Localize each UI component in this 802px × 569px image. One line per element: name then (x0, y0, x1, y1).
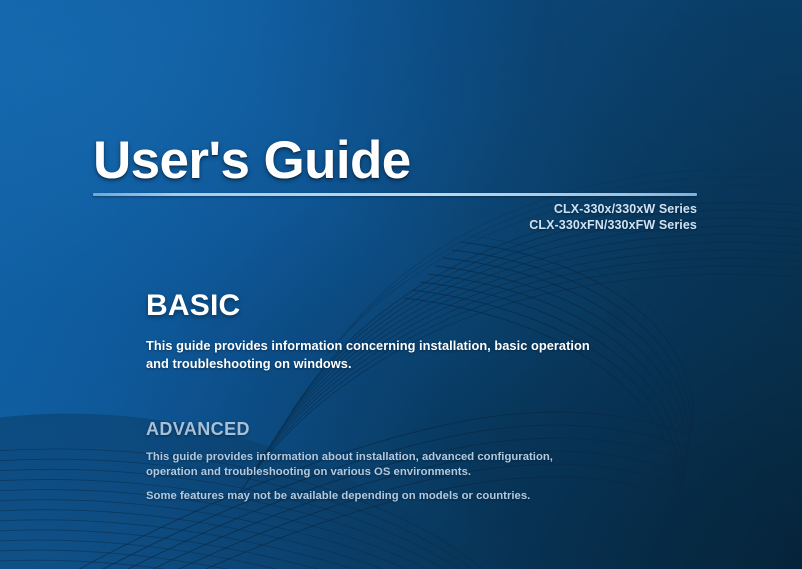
advanced-description: This guide provides information about in… (146, 450, 606, 505)
cover-page: User's Guide CLX-330x/330xW Series CLX-3… (0, 0, 802, 569)
advanced-note: Some features may not be available depen… (146, 489, 606, 505)
model-series-line-2: CLX-330xFN/330xFW Series (300, 217, 697, 233)
advanced-section: ADVANCED This guide provides information… (146, 420, 666, 504)
basic-description: This guide provides information concerni… (146, 337, 616, 373)
advanced-description-line-2: troubleshooting on various OS environmen… (224, 466, 471, 478)
model-series-line-1: CLX-330x/330xW Series (300, 201, 697, 217)
advanced-heading: ADVANCED (146, 420, 666, 440)
page-title: User's Guide (93, 133, 411, 189)
basic-heading: BASIC (146, 289, 666, 322)
title-divider (93, 193, 697, 196)
paragraph-spacer (146, 481, 606, 489)
basic-section: BASIC This guide provides information co… (146, 289, 666, 373)
advanced-description-paragraph: This guide provides information about in… (146, 450, 606, 481)
basic-description-line-2: troubleshooting on windows. (173, 356, 352, 371)
cover-content: User's Guide CLX-330x/330xW Series CLX-3… (0, 0, 802, 569)
model-series-block: CLX-330x/330xW Series CLX-330xFN/330xFW … (300, 201, 697, 233)
